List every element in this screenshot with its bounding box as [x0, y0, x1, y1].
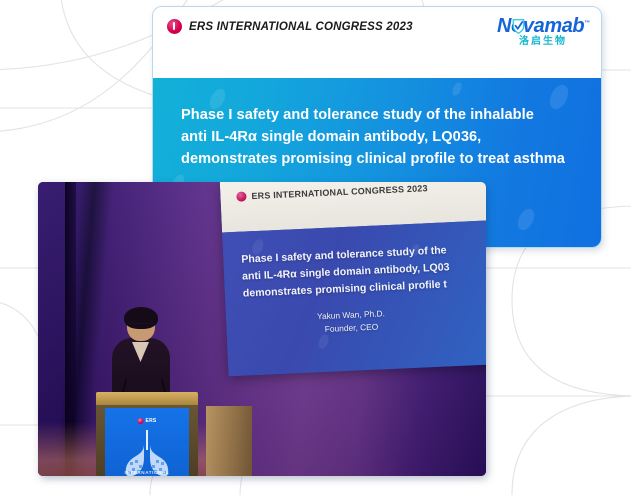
novamab-chinese-name: 洛启生物: [497, 37, 589, 47]
podium-ers-label: ERS: [146, 418, 157, 424]
conference-stage-photograph: ERS INTERNATIONAL CONGRESS 2023 Phase I …: [38, 182, 486, 476]
ers-circle-logo-icon: [236, 191, 246, 201]
speaker-glasses: [128, 323, 154, 330]
novamab-wordmark: Novamab™: [497, 16, 590, 36]
presenter-role: Founder, CEO: [325, 321, 379, 333]
presentation-title: Phase I safety and tolerance study of th…: [153, 78, 601, 171]
slide-body: Phase I safety and tolerance study of th…: [222, 220, 486, 377]
ers-circle-logo-icon: [138, 418, 144, 424]
presentation-title-line-3: demonstrates promising clinical profile …: [181, 151, 565, 167]
presentation-title-line-1: Phase I safety and tolerance study of th…: [181, 107, 534, 123]
novamab-wordmark-part2: vamab: [523, 15, 584, 37]
presentation-title-line-2: anti IL-4Rα single domain antibody, LQ03…: [181, 129, 481, 145]
novamab-wordmark-part1: N: [497, 15, 511, 37]
card-header: ERS INTERNATIONAL CONGRESS 2023 Novamab™…: [153, 7, 601, 78]
novamab-shield-check-icon: [511, 18, 526, 35]
novamab-logo: Novamab™ 洛启生物: [497, 16, 589, 47]
slide-congress-label: ERS INTERNATIONAL CONGRESS 2023: [251, 183, 428, 201]
podium-display-panel: ERS INTERNATIONAL: [105, 408, 189, 476]
projection-screen: ERS INTERNATIONAL CONGRESS 2023 Phase I …: [220, 182, 486, 376]
slide-title: Phase I safety and tolerance study of th…: [222, 220, 486, 304]
slide-ers-brand: ERS INTERNATIONAL CONGRESS 2023: [236, 183, 428, 202]
trademark-symbol: ™: [584, 20, 590, 26]
podium-caption: INTERNATIONAL: [105, 470, 189, 475]
congress-title-label: ERS INTERNATIONAL CONGRESS 2023: [189, 21, 413, 33]
podium-ers-brand: ERS: [138, 418, 157, 424]
stage-side-panel: [206, 406, 252, 476]
podium: ERS INTERNATIONAL: [96, 392, 198, 476]
ers-brand: ERS INTERNATIONAL CONGRESS 2023: [167, 19, 413, 34]
presenter-name: Yakun Wan, Ph.D.: [317, 309, 385, 322]
podium-top-surface: [96, 392, 198, 405]
ers-circle-logo-icon: [167, 19, 182, 34]
decorative-blob: [515, 206, 538, 233]
